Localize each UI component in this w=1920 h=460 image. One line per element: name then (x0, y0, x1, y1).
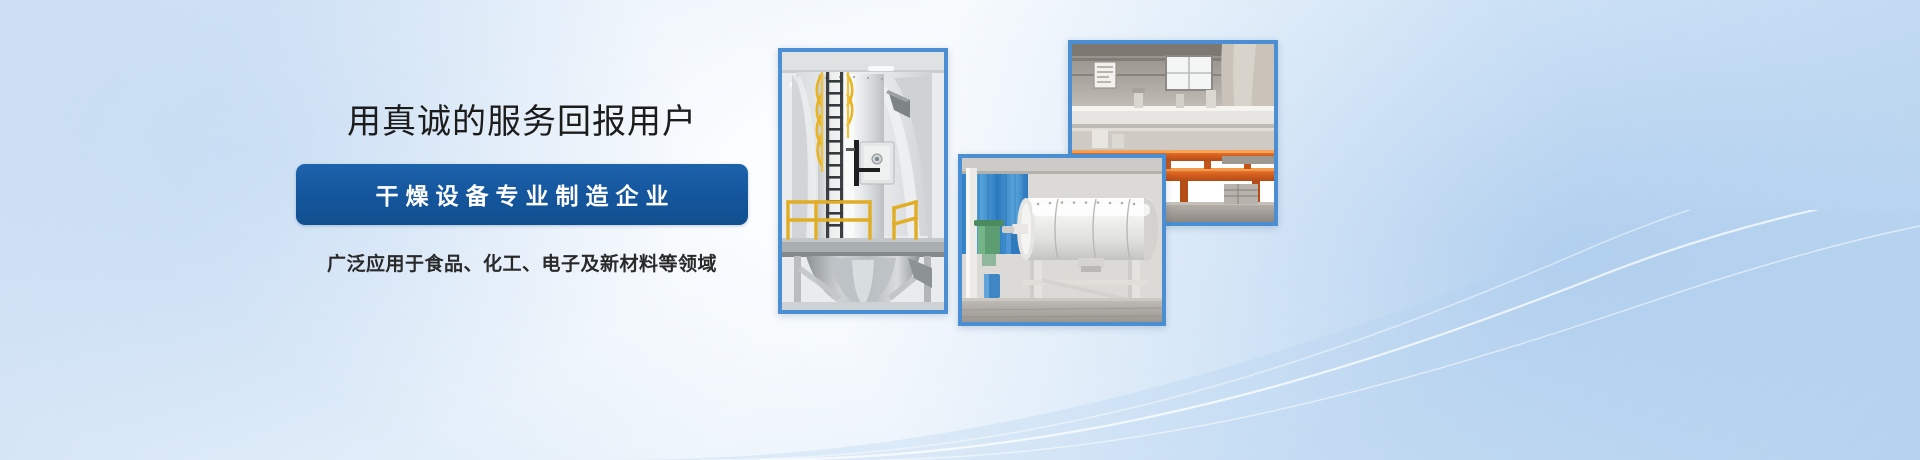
banner-subtitle: 广泛应用于食品、化工、电子及新材料等领域 (296, 249, 748, 276)
page-title: 用真诚的服务回报用户 (296, 104, 748, 141)
ribbon-mixer-image (962, 158, 1162, 322)
photo-card-ribbon-mixer (958, 154, 1166, 326)
photo-card-spray-dryer (778, 48, 948, 314)
banner-copy: 用真诚的服务回报用户 干燥设备专业制造企业 广泛应用于食品、化工、电子及新材料等… (296, 104, 748, 276)
hero-banner: 用真诚的服务回报用户 干燥设备专业制造企业 广泛应用于食品、化工、电子及新材料等… (0, 0, 1920, 460)
status-badge: 干燥设备专业制造企业 (296, 164, 748, 225)
spray-dryer-image (782, 52, 944, 310)
